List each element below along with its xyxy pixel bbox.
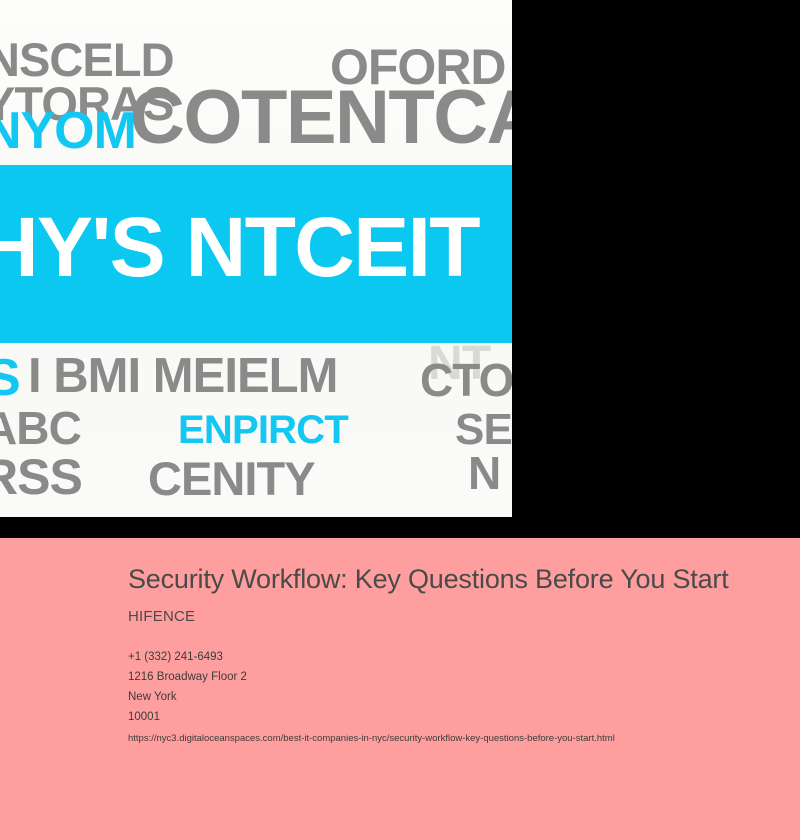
hero-image: NSCELDYTORASNYOMOFORDCOTENTCAHY'S NTCEIT… [0, 0, 512, 517]
word-cloud-item: CENITY [148, 455, 315, 502]
word-cloud-item: RSS [0, 452, 82, 502]
contact-zip: 10001 [128, 707, 768, 727]
word-cloud-item: CTO [420, 357, 512, 403]
word-cloud-item: COTENTCA [130, 80, 512, 156]
word-cloud-item: NYOM [0, 105, 136, 157]
hero-canvas: NSCELDYTORASNYOMOFORDCOTENTCAHY'S NTCEIT… [0, 0, 512, 517]
word-cloud-item: HY'S NTCEIT [0, 205, 479, 289]
word-cloud-item: ABC [0, 405, 81, 451]
source-url: https://nyc3.digitaloceanspaces.com/best… [128, 730, 768, 748]
word-cloud-item: ENPIRCT [178, 410, 348, 450]
word-cloud-item: I BMI MEIELM [28, 352, 337, 401]
info-panel: Security Workflow: Key Questions Before … [0, 538, 800, 840]
contact-block: +1 (332) 241-6493 1216 Broadway Floor 2 … [128, 647, 768, 727]
info-content: Security Workflow: Key Questions Before … [128, 564, 768, 748]
word-cloud-item: N [468, 450, 500, 496]
contact-phone: +1 (332) 241-6493 [128, 647, 768, 667]
contact-city: New York [128, 687, 768, 707]
word-cloud-item: S [0, 352, 20, 404]
brand-name: HIFENCE [128, 608, 768, 625]
page-title: Security Workflow: Key Questions Before … [128, 564, 733, 595]
word-cloud-item: SE [455, 408, 512, 452]
page-root: NSCELDYTORASNYOMOFORDCOTENTCAHY'S NTCEIT… [0, 0, 800, 840]
contact-address: 1216 Broadway Floor 2 [128, 667, 768, 687]
